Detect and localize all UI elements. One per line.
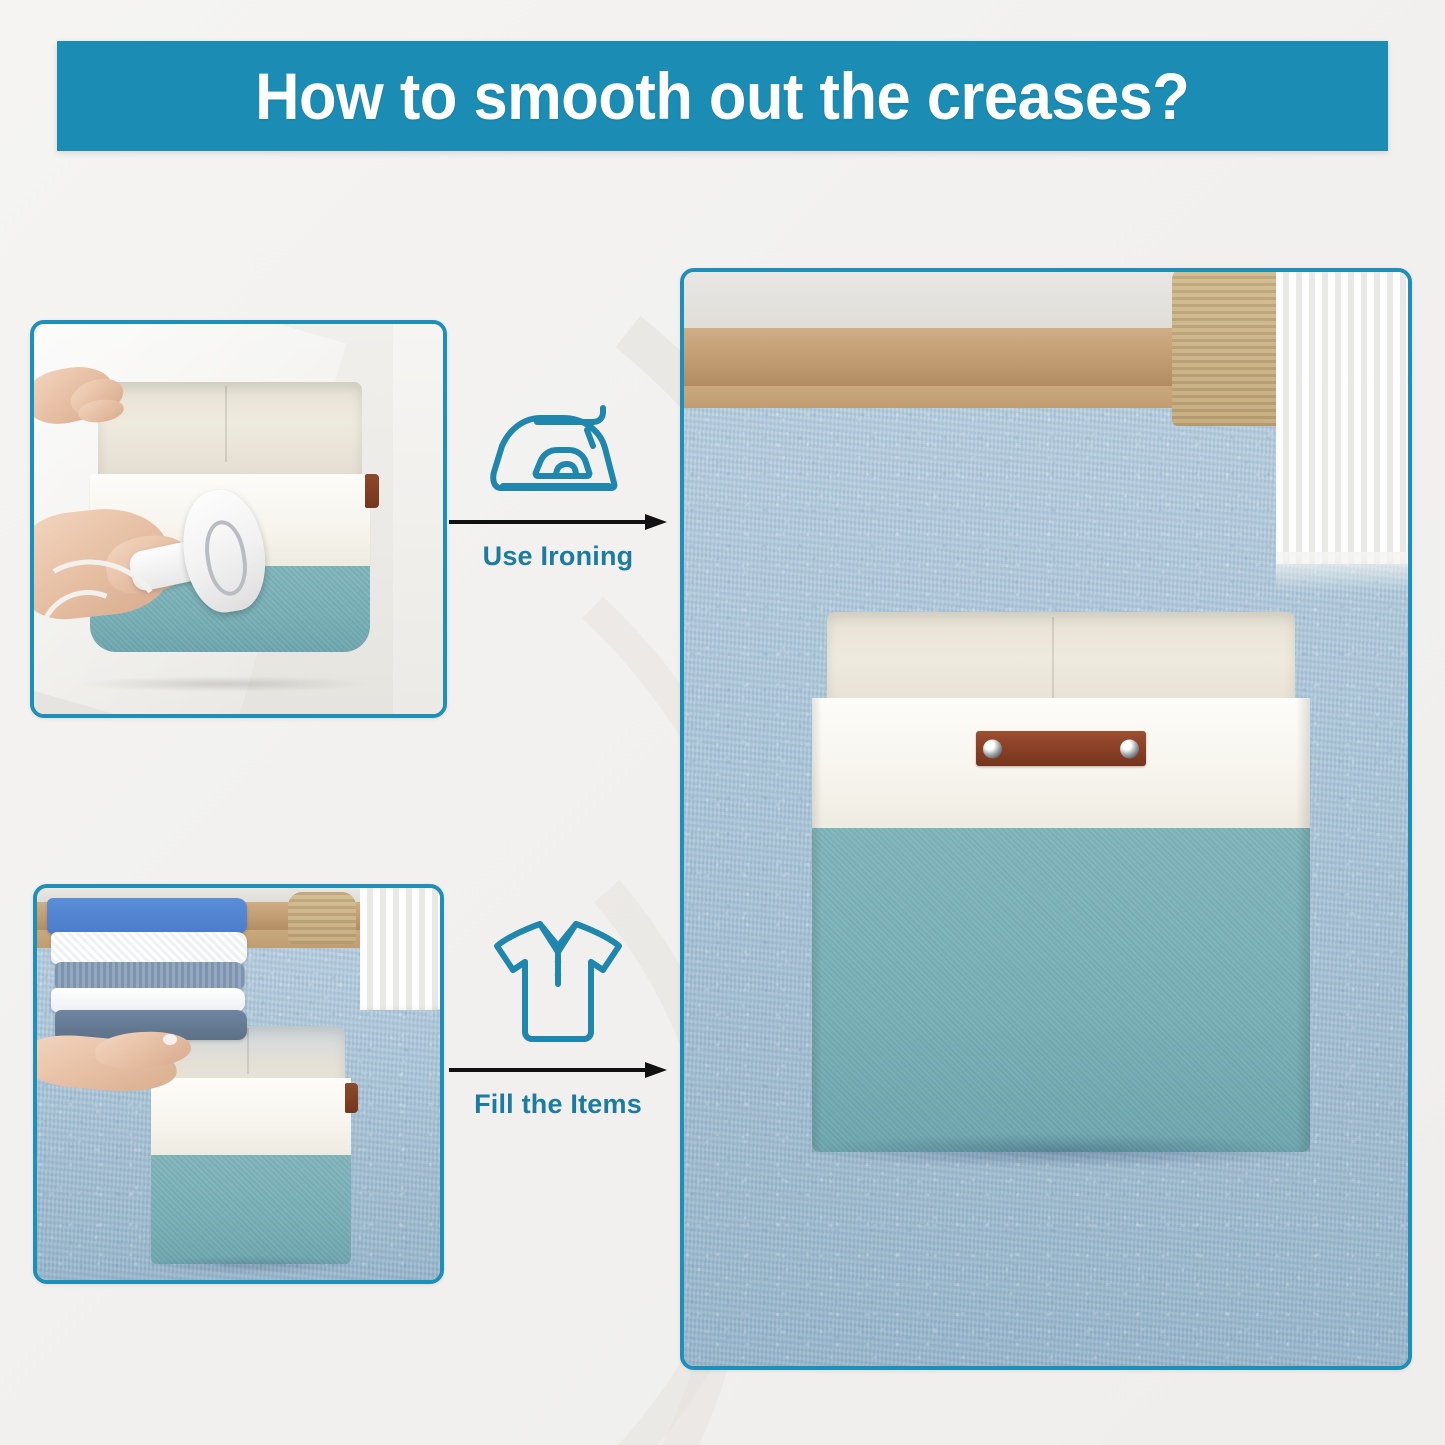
header-banner: How to smooth out the creases?: [57, 41, 1388, 151]
infographic-canvas: How to smooth out the creases?: [0, 0, 1445, 1445]
result-basket-photo: [680, 268, 1412, 1370]
arrow-to-result-bottom: [447, 1060, 669, 1080]
step-label-fill-the-items: Fill the Items: [474, 1089, 642, 1120]
step-label-use-ironing: Use Ironing: [483, 541, 634, 572]
filling-basket-photo: [33, 884, 444, 1284]
iron-icon: [483, 400, 633, 504]
step-fill-the-items: Fill the Items: [443, 912, 673, 1120]
arrow-to-result-top: [447, 512, 669, 532]
steaming-basket-photo: [30, 320, 447, 718]
step-use-ironing: Use Ironing: [443, 400, 673, 572]
shirt-icon: [483, 912, 633, 1052]
bin-leather-handle: [976, 731, 1145, 767]
page-title: How to smooth out the creases?: [255, 58, 1189, 134]
